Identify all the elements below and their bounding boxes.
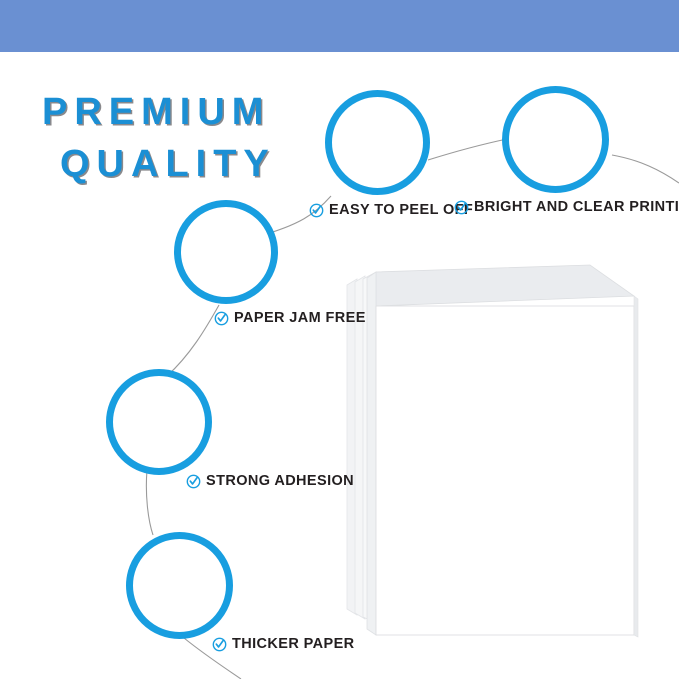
badge-circle (106, 369, 212, 475)
circled-check-icon (214, 311, 229, 326)
badge-circle (174, 200, 278, 304)
circled-check-icon (454, 200, 469, 215)
feature-label-text: EASY TO PEEL OFF (329, 202, 473, 218)
page-title: PREMIUM QUALITY (42, 93, 276, 183)
feature-label-text: BRIGHT AND CLEAR PRINTING (474, 199, 679, 215)
paper-ream-image (345, 263, 661, 641)
badge-circle (126, 532, 233, 639)
circled-check-icon (186, 474, 201, 489)
feature-label-paper-jam-free: PAPER JAM FREE (214, 310, 366, 326)
page-title-line-2: QUALITY (42, 145, 276, 183)
badge-circle (325, 90, 430, 195)
feature-label-text: PAPER JAM FREE (234, 310, 366, 326)
badge-circle (502, 86, 609, 193)
feature-label-bright-and-clear-printing: BRIGHT AND CLEAR PRINTING (454, 199, 679, 215)
product-feature-infographic: PREMIUM QUALITY (0, 0, 679, 679)
circled-check-icon (309, 203, 324, 218)
feature-label-strong-adhesion: STRONG ADHESION (186, 473, 354, 489)
page-title-line-1: PREMIUM (42, 93, 276, 131)
top-banner (0, 0, 679, 52)
feature-label-easy-to-peel-off: EASY TO PEEL OFF (309, 202, 473, 218)
feature-label-text: STRONG ADHESION (206, 473, 354, 489)
feature-label-text: THICKER PAPER (232, 636, 355, 652)
circled-check-icon (212, 637, 227, 652)
feature-label-thicker-paper: THICKER PAPER (212, 636, 355, 652)
